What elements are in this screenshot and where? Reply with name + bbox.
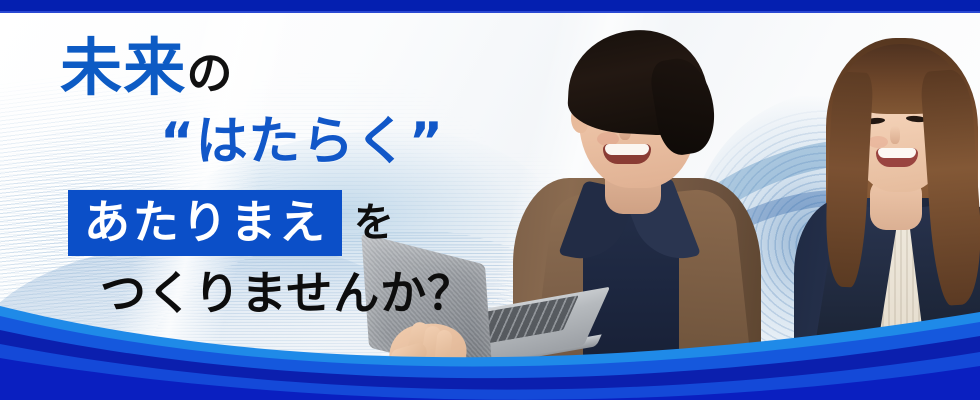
hero-banner: 未来の “はたらく” あたりまえ を つくりませんか？ [0, 0, 980, 400]
headline-line-1: 未来の [60, 38, 234, 100]
top-accent-bar [0, 0, 980, 13]
headline-particle-wo: を [354, 203, 394, 243]
headline-copy: 未来の “はたらく” あたりまえ を つくりませんか？ [0, 0, 520, 400]
headline-line-3: あたりまえ を [68, 190, 394, 256]
headline-particle-no: の [186, 48, 233, 99]
headline-kanji-mirai: 未来 [60, 35, 186, 103]
headline-line-4: つくりませんか？ [100, 270, 474, 316]
headline-highlight-text: あたりまえ [84, 195, 328, 249]
headline-highlight-box: あたりまえ [68, 190, 342, 256]
headline-line-2: “はたらく” [160, 116, 445, 168]
